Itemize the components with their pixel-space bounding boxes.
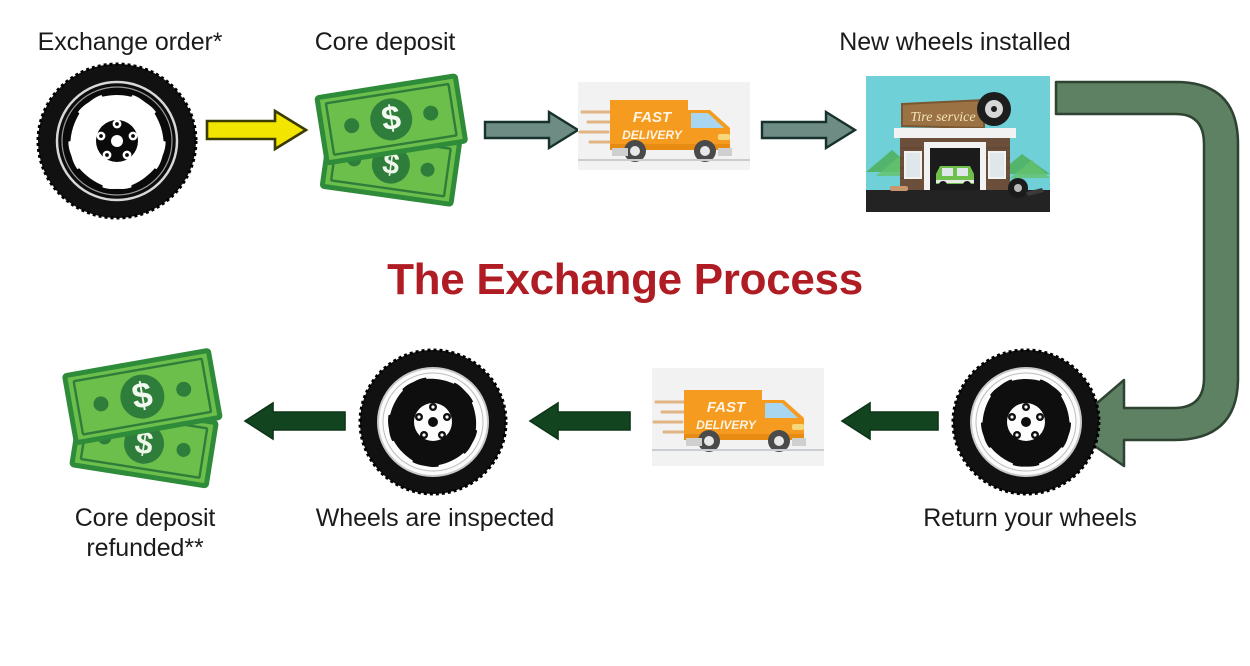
label-new-wheels-installed: New wheels installed	[790, 28, 1120, 58]
truck-line-1: FAST	[633, 109, 673, 126]
arrow-truck-to-inspect	[528, 402, 632, 440]
footnote-left-line-1: *Please send us a picture of your wheel.	[32, 644, 350, 666]
arrow-deposit-to-truck	[483, 110, 581, 150]
label-core-deposit: Core deposit	[275, 28, 495, 58]
arrow-inspect-to-refund	[243, 402, 347, 440]
label-core-deposit-refunded: Core deposit refunded**	[25, 504, 265, 563]
fast-delivery-truck-icon-inbound: FAST DELIVERY	[652, 368, 824, 466]
svg-text:FAST: FAST	[707, 399, 747, 416]
footnote-right-line-1: -Same size same spoke pattern	[858, 644, 1188, 666]
footnote-right: -Same size same spoke pattern -No chrome…	[858, 594, 1188, 666]
arrow-return-to-truck	[840, 402, 940, 440]
truck-line-2: DELIVERY	[622, 128, 683, 142]
exchange-process-diagram: Exchange order* Core deposit New wheels …	[0, 0, 1250, 666]
page-title: The Exchange Process	[0, 255, 1250, 305]
cash-money-icon-deposit: $ $	[308, 72, 480, 212]
cash-money-icon-refund: $ $	[56, 348, 236, 492]
label-exchange-order: Exchange order*	[10, 28, 250, 58]
tire-service-shop-icon: Tire service	[866, 76, 1050, 212]
svg-text:DELIVERY: DELIVERY	[696, 418, 757, 432]
silver-wheel-icon-inspected	[358, 348, 508, 496]
silver-wheel-icon-return	[951, 348, 1101, 496]
arrow-order-to-deposit	[205, 108, 310, 152]
label-wheels-are-inspected: Wheels are inspected	[290, 504, 580, 534]
label-return-your-wheels: Return your wheels	[880, 504, 1180, 534]
black-wheel-icon	[36, 62, 198, 220]
shop-sign-text: Tire service	[910, 110, 975, 125]
arrow-truck-to-shop	[760, 110, 858, 150]
fast-delivery-truck-icon-outbound: FAST DELIVERY	[578, 82, 750, 170]
footnote-left: *Please send us a picture of your wheel.…	[32, 594, 350, 666]
